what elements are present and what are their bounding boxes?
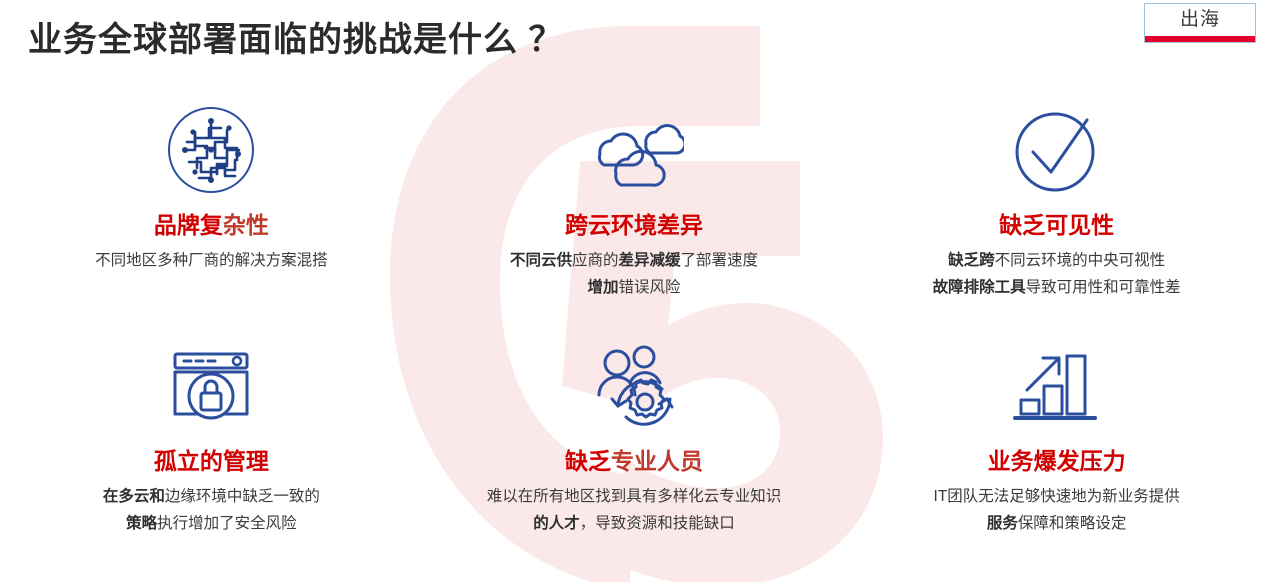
check-circle-icon <box>1011 98 1103 202</box>
challenge-description: 在多云和边缘环境中缺乏一致的 策略执行增加了安全风险 <box>103 483 320 537</box>
slide-root: 出海 业务全球部署面临的挑战是什么 ？ <box>0 0 1268 582</box>
challenge-heading-part1: 缺乏 <box>565 448 611 474</box>
challenge-heading-part2: 专业人员 <box>611 448 703 474</box>
challenge-line: 的人才，导致资源和技能缺口 <box>487 510 782 537</box>
challenge-heading-part2: 杂性 <box>223 212 269 238</box>
challenge-line: 难以在所有地区找到具有多样化云专业知识 <box>487 483 782 510</box>
challenge-line-normal: 边缘环境中缺乏一致的 <box>165 488 320 505</box>
challenge-line-strong: 缺乏跨 <box>948 252 995 269</box>
challenge-line-strong: 策略 <box>126 515 157 532</box>
challenge-line-normal: 不同云环境的中央可视性 <box>995 252 1166 269</box>
challenge-line-normal: 不同地区多种厂商的解决方案混搭 <box>95 252 328 269</box>
challenge-heading-part1: 孤立的管理 <box>154 448 269 474</box>
people-gear-icon <box>586 334 682 438</box>
challenge-line-strong: 服务 <box>987 515 1018 532</box>
challenge-line-normal: 难以在所有地区找到具有多样化云专业知识 <box>487 488 782 505</box>
clouds-icon <box>584 98 684 202</box>
challenge-line: 不同地区多种厂商的解决方案混搭 <box>95 247 328 274</box>
page-title: 业务全球部署面临的挑战是什么 ？ <box>28 12 563 61</box>
challenge-line: 缺乏跨不同云环境的中央可视性 <box>933 247 1181 274</box>
challenge-heading-part1: 跨云环境差异 <box>565 212 703 238</box>
challenge-grid: 品牌复杂性 不同地区多种厂商的解决方案混搭 跨云环境差 <box>0 98 1268 562</box>
challenge-line-normal: 应商的 <box>572 252 619 269</box>
challenge-line-strong: 在多云和 <box>103 488 165 505</box>
challenge-heading: 品牌复杂性 <box>154 212 269 238</box>
challenge-card-business-pressure: 业务爆发压力 IT团队无法足够快速地为新业务提供 服务保障和策略设定 <box>845 330 1268 562</box>
challenge-line-normal-2: 了部署速度 <box>681 252 759 269</box>
challenge-heading: 业务爆发压力 <box>988 448 1126 474</box>
topic-badge-label: 出海 <box>1145 4 1255 36</box>
challenge-line-strong: 不同云供 <box>510 252 572 269</box>
bar-chart-growth-icon <box>1011 334 1103 438</box>
challenge-heading: 缺乏专业人员 <box>565 448 703 474</box>
circuit-network-icon <box>165 98 257 202</box>
challenge-line: 不同云供应商的差异减缓了部署速度 <box>510 247 758 274</box>
challenge-line-normal: IT团队无法足够快速地为新业务提供 <box>934 488 1180 505</box>
challenge-line-strong-2: 差异减缓 <box>618 252 680 269</box>
challenge-description: 不同地区多种厂商的解决方案混搭 <box>95 247 328 274</box>
topic-badge: 出海 <box>1144 3 1256 43</box>
challenge-line-normal: 执行增加了安全风险 <box>157 515 297 532</box>
challenge-heading: 跨云环境差异 <box>565 212 703 238</box>
challenge-card-cloud-differences: 跨云环境差异 不同云供应商的差异减缓了部署速度 增加错误风险 <box>423 98 846 330</box>
challenge-line-normal: 导致可用性和可靠性差 <box>1026 279 1181 296</box>
challenge-line-strong: 增加 <box>587 279 618 296</box>
challenge-line: 增加错误风险 <box>510 274 758 301</box>
challenge-heading-part1: 缺乏可见性 <box>999 212 1114 238</box>
challenge-description: 缺乏跨不同云环境的中央可视性 故障排除工具导致可用性和可靠性差 <box>933 247 1181 301</box>
challenge-description: 不同云供应商的差异减缓了部署速度 增加错误风险 <box>510 247 758 301</box>
browser-lock-icon <box>165 334 257 438</box>
challenge-heading-part1: 业务爆发压力 <box>988 448 1126 474</box>
challenge-heading: 孤立的管理 <box>154 448 269 474</box>
challenge-card-siloed-management: 孤立的管理 在多云和边缘环境中缺乏一致的 策略执行增加了安全风险 <box>0 330 423 562</box>
challenge-description: 难以在所有地区找到具有多样化云专业知识 的人才，导致资源和技能缺口 <box>487 483 782 537</box>
challenge-line: 故障排除工具导致可用性和可靠性差 <box>933 274 1181 301</box>
challenge-line: 服务保障和策略设定 <box>934 510 1180 537</box>
challenge-description: IT团队无法足够快速地为新业务提供 服务保障和策略设定 <box>934 483 1180 537</box>
challenge-card-lack-visibility: 缺乏可见性 缺乏跨不同云环境的中央可视性 故障排除工具导致可用性和可靠性差 <box>845 98 1268 330</box>
challenge-line-normal: ，导致资源和技能缺口 <box>580 515 735 532</box>
challenge-line-normal: 保障和策略设定 <box>1018 515 1127 532</box>
challenge-line: 在多云和边缘环境中缺乏一致的 <box>103 483 320 510</box>
challenge-line-strong: 的人才 <box>533 515 580 532</box>
challenge-heading: 缺乏可见性 <box>999 212 1114 238</box>
challenge-line: 策略执行增加了安全风险 <box>103 510 320 537</box>
challenge-line: IT团队无法足够快速地为新业务提供 <box>934 483 1180 510</box>
challenge-card-brand-complexity: 品牌复杂性 不同地区多种厂商的解决方案混搭 <box>0 98 423 330</box>
challenge-heading-part1: 品牌复 <box>154 212 223 238</box>
challenge-card-lack-experts: 缺乏专业人员 难以在所有地区找到具有多样化云专业知识 的人才，导致资源和技能缺口 <box>423 330 846 562</box>
challenge-line-strong: 故障排除工具 <box>933 279 1026 296</box>
topic-badge-bar <box>1145 36 1255 42</box>
challenge-line-normal: 错误风险 <box>618 279 680 296</box>
